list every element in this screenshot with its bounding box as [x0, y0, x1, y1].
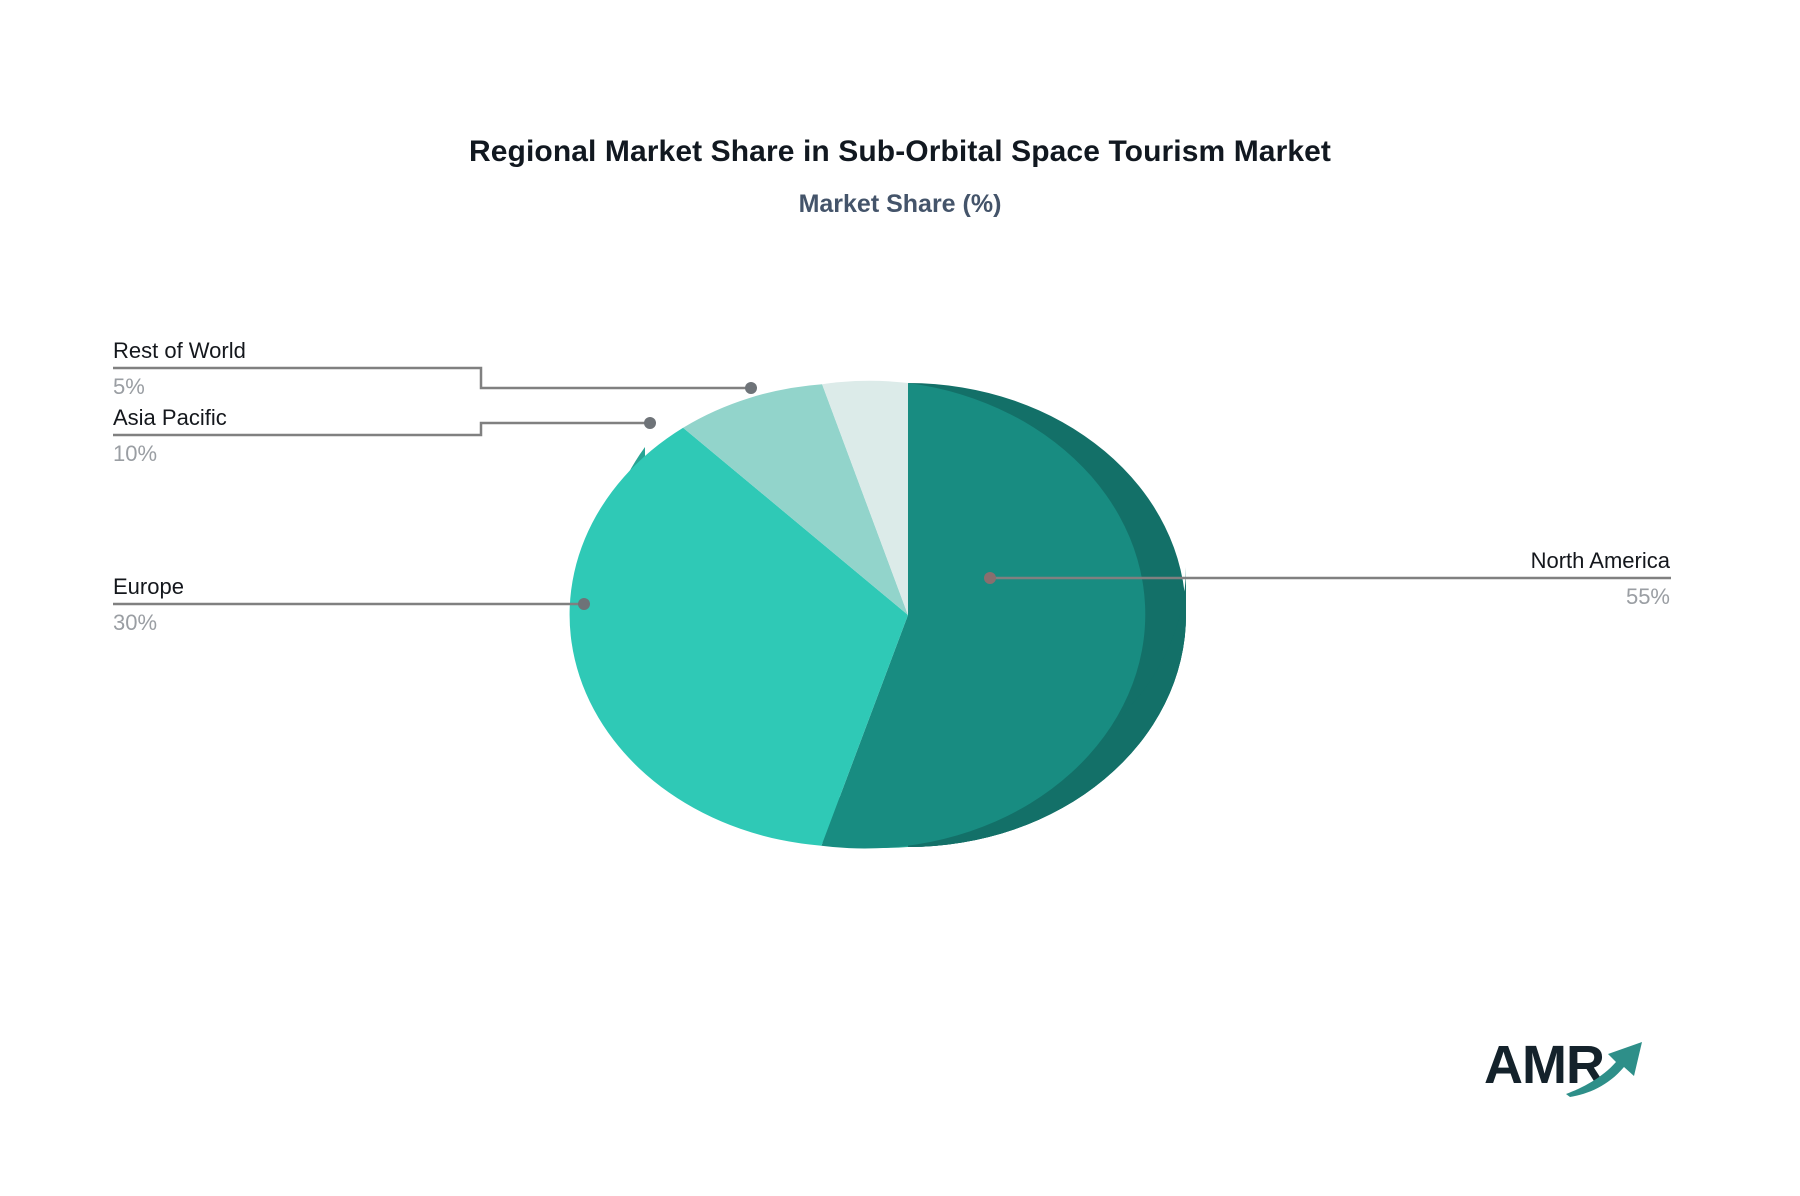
- callout-rest-of-world-value: 5%: [113, 372, 483, 402]
- pie-slice-north-america: [821, 383, 1145, 849]
- chart-subtitle: Market Share (%): [0, 188, 1800, 220]
- amr-logo: AMR: [1484, 1036, 1654, 1108]
- pie-slice-europe: [570, 428, 908, 846]
- chart-title: Regional Market Share in Sub-Orbital Spa…: [0, 133, 1800, 171]
- growth-arrow-icon: [1564, 1036, 1656, 1098]
- leader-dot-north-america: [984, 572, 996, 584]
- callout-europe[interactable]: Europe 30%: [113, 572, 503, 638]
- callout-europe-label: Europe: [113, 572, 503, 602]
- leader-dot-europe: [578, 598, 590, 610]
- callout-asia-pacific-label: Asia Pacific: [113, 403, 483, 433]
- pie-side-north-america-bottom: [908, 615, 1186, 847]
- leader-dot-asia-pacific: [644, 417, 656, 429]
- pie-top-faces: [570, 381, 1146, 849]
- callout-north-america[interactable]: North America 55%: [1270, 546, 1670, 612]
- callout-north-america-value: 55%: [1270, 582, 1670, 612]
- pie-side-na-band: [908, 567, 1186, 847]
- leader-dot-rest-of-world: [745, 382, 757, 394]
- pie-slice-asia-pacific: [683, 384, 908, 615]
- callout-rest-of-world[interactable]: Rest of World 5%: [113, 336, 483, 402]
- pie-3d-sides: [604, 383, 1186, 848]
- callout-rest-of-world-label: Rest of World: [113, 336, 483, 366]
- callout-asia-pacific-value: 10%: [113, 439, 483, 469]
- pie-slice-rest-of-world: [822, 381, 908, 615]
- callout-asia-pacific[interactable]: Asia Pacific 10%: [113, 403, 483, 469]
- pie-side-europe: [604, 447, 908, 848]
- pie-chart-figure: Regional Market Share in Sub-Orbital Spa…: [0, 0, 1800, 1196]
- pie-side-north-america: [908, 383, 1186, 847]
- leader-dots: [578, 382, 996, 610]
- callout-north-america-label: North America: [1270, 546, 1670, 576]
- callout-europe-value: 30%: [113, 608, 503, 638]
